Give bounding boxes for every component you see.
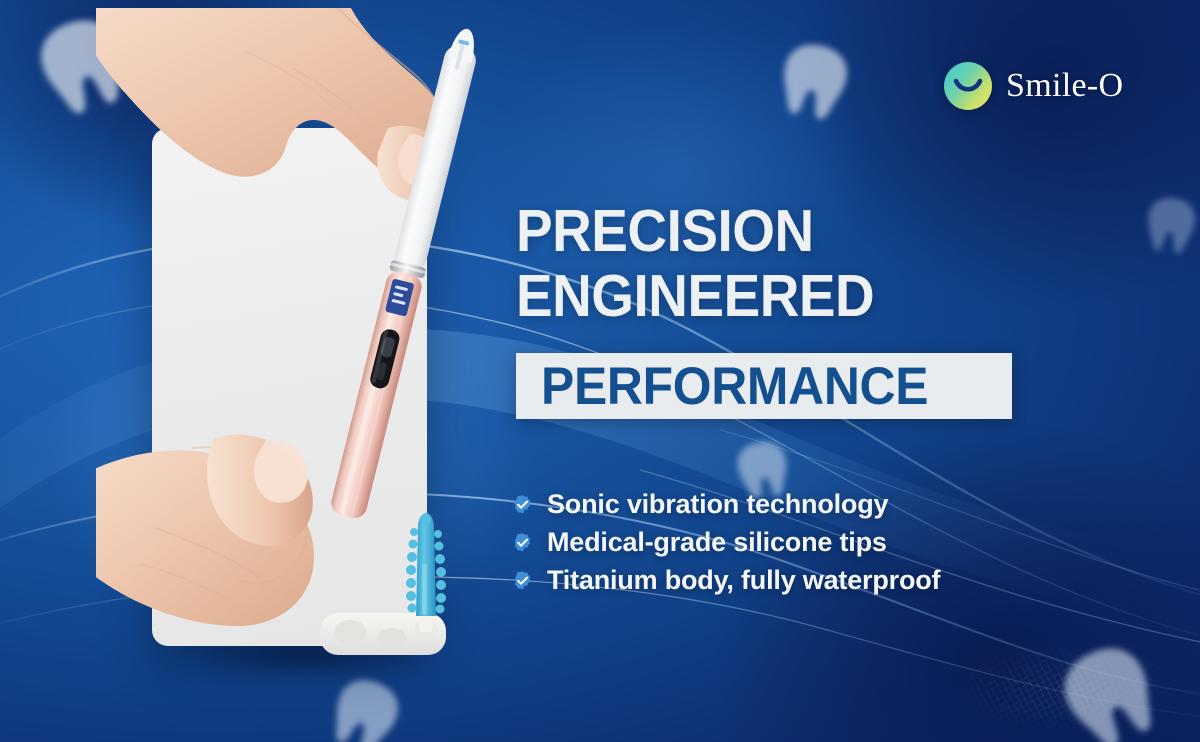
brand-logo[interactable]: Smile-O: [944, 62, 1123, 110]
check-badge-icon: [512, 532, 533, 553]
feature-label: Sonic vibration technology: [547, 489, 888, 520]
feature-label: Medical-grade silicone tips: [547, 527, 887, 558]
tooth-motif-icon: [1045, 630, 1175, 742]
smile-circle-icon: [944, 62, 992, 110]
tooth-motif-icon: [771, 35, 858, 126]
headline-line-1: PRECISION: [516, 203, 1000, 259]
promo-banner: Smile-O PRECISION ENGINEERED PERFORMANCE…: [0, 0, 1200, 742]
headline-highlight: PERFORMANCE: [516, 353, 1012, 419]
feature-item: Sonic vibration technology: [512, 489, 940, 520]
headline-highlight-text: PERFORMANCE: [541, 356, 928, 417]
feature-list: Sonic vibration technology Medical-grade…: [512, 489, 940, 596]
check-badge-icon: [512, 570, 533, 591]
headline: PRECISION ENGINEERED: [516, 203, 1036, 324]
brand-name: Smile-O: [1006, 67, 1123, 105]
feature-item: Medical-grade silicone tips: [512, 527, 940, 558]
feature-item: Titanium body, fully waterproof: [512, 565, 940, 596]
background-vignette-top-right: [700, 0, 1200, 390]
feature-label: Titanium body, fully waterproof: [547, 565, 940, 596]
product-photo: [96, 8, 566, 698]
headline-line-2: ENGINEERED: [516, 268, 1000, 324]
tooth-motif-icon: [1140, 193, 1200, 258]
check-badge-icon: [512, 494, 533, 515]
